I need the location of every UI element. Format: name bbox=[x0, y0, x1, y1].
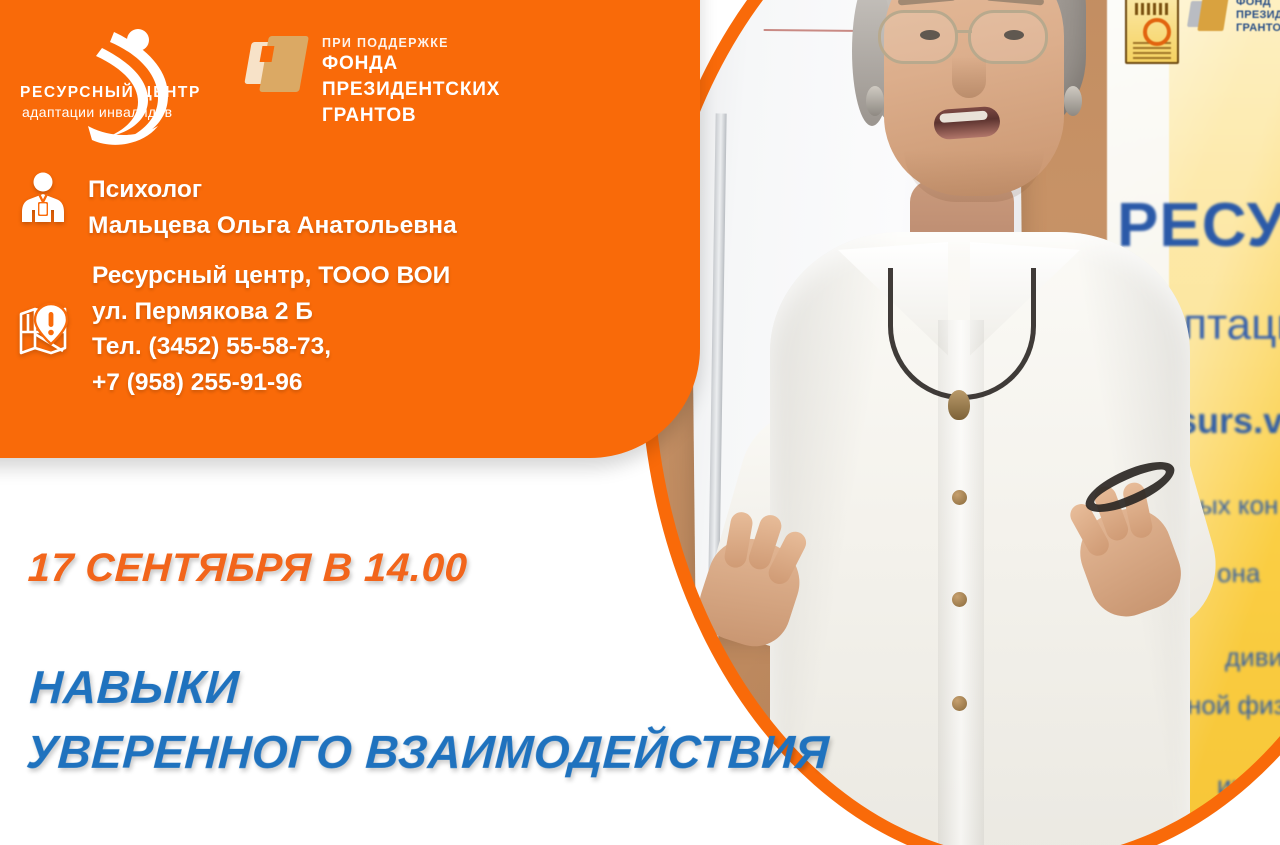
speaker-pendant bbox=[948, 390, 970, 420]
orange-info-panel: РЕСУРСНЫЙ ЦЕНТР адаптации инвалидов ПРИ … bbox=[0, 0, 700, 458]
speaker-teeth bbox=[939, 111, 988, 123]
speaker-nose bbox=[952, 56, 986, 98]
map-pin-icon bbox=[18, 302, 70, 358]
speaker-earring-left bbox=[866, 86, 884, 116]
grants-kicker: ПРИ ПОДДЕРЖКЕ bbox=[322, 36, 500, 50]
blouse-button bbox=[952, 490, 967, 505]
person-badge-icon bbox=[20, 172, 66, 224]
blouse-button bbox=[952, 696, 967, 711]
event-title-line-2: УВЕРЕННОГО ВЗАИМОДЕЙСТВИЯ bbox=[25, 720, 831, 785]
event-datetime: 17 СЕНТЯБРЯ В 14.00 bbox=[27, 546, 469, 591]
contact-phone-1: Тел. (3452) 55-58-73, bbox=[92, 329, 450, 365]
grants-flag-icon bbox=[248, 36, 308, 98]
contact-organization: Ресурсный центр, ТООО ВОИ bbox=[92, 258, 450, 294]
contact-person-text: Психолог Мальцева Ольга Анатольевна bbox=[88, 172, 457, 243]
contact-address: ул. Пермякова 2 Б bbox=[92, 294, 450, 330]
glasses-lens-left bbox=[878, 10, 958, 64]
speaker-earring-right bbox=[1064, 86, 1082, 116]
logo-group: РЕСУРСНЫЙ ЦЕНТР адаптации инвалидов ПРИ … bbox=[18, 22, 500, 150]
resource-center-logo-line1: РЕСУРСНЫЙ ЦЕНТР bbox=[20, 84, 201, 102]
contact-phone-2: +7 (958) 255-91-96 bbox=[92, 365, 450, 401]
speaker-mouth bbox=[933, 106, 1001, 141]
contact-person-row: Психолог Мальцева Ольга Анатольевна bbox=[20, 172, 457, 243]
resource-center-logo-line2: адаптации инвалидов bbox=[22, 104, 173, 120]
glasses-bridge bbox=[956, 30, 972, 33]
contact-role: Психолог bbox=[88, 172, 457, 208]
resource-center-logo: РЕСУРСНЫЙ ЦЕНТР адаптации инвалидов bbox=[18, 22, 196, 150]
contact-address-text: Ресурсный центр, ТООО ВОИ ул. Пермякова … bbox=[92, 258, 450, 400]
presidential-grants-fund-logo: ПРИ ПОДДЕРЖКЕ ФОНДА ПРЕЗИДЕНТСКИХ ГРАНТО… bbox=[248, 36, 500, 127]
contact-name: Мальцева Ольга Анатольевна bbox=[88, 208, 457, 244]
blouse-button bbox=[952, 592, 967, 607]
grants-line2: ПРЕЗИДЕНТСКИХ bbox=[322, 79, 500, 102]
event-title-line-1: НАВЫКИ bbox=[28, 655, 834, 720]
grants-line1: ФОНДА bbox=[322, 53, 500, 76]
poster-root: ФОНД ПРЕЗИДЕНТСКИХ ГРАНТОВ РЕСУРСНЫЙ дап… bbox=[0, 0, 1280, 845]
event-title: НАВЫКИ УВЕРЕННОГО ВЗАИМОДЕЙСТВИЯ bbox=[25, 655, 835, 786]
grants-line3: ГРАНТОВ bbox=[322, 105, 500, 128]
contact-address-row: Ресурсный центр, ТООО ВОИ ул. Пермякова … bbox=[18, 258, 450, 400]
